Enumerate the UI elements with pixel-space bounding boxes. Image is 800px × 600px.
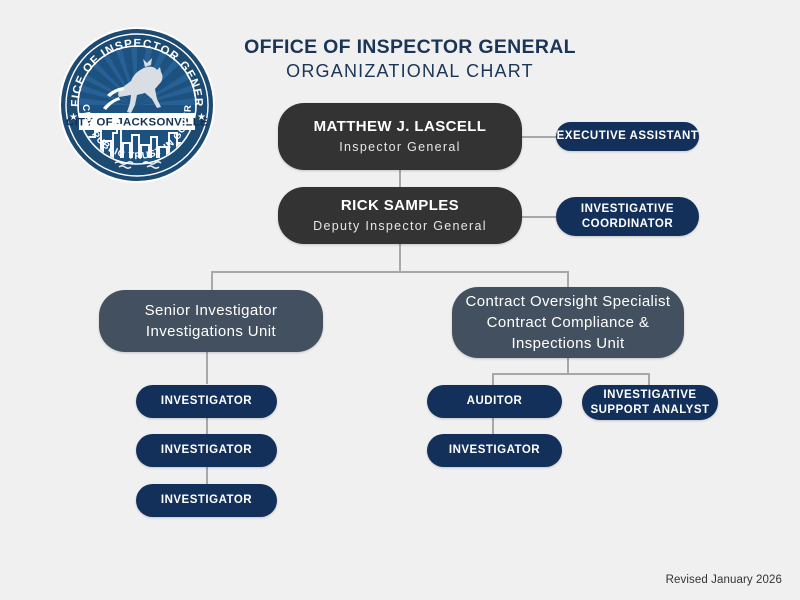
node-investigator-1[interactable]: INVESTIGATOR (136, 385, 277, 418)
node-senior-investigator-label-line1: Senior Investigator (145, 300, 278, 321)
page-title: OFFICE OF INSPECTOR GENERAL ORGANIZATION… (230, 36, 590, 83)
node-contract-oversight-label-line2: Contract Compliance & (487, 312, 650, 333)
node-inspector-general-name: MATTHEW J. LASCELL (314, 118, 487, 136)
connector-bar-to-auditor (492, 373, 494, 385)
city-of-jacksonville-oig-seal: CITY OF JACKSONVILLE (57, 25, 217, 185)
node-inspector-general[interactable]: MATTHEW J. LASCELL Inspector General (278, 103, 522, 170)
node-executive-assistant[interactable]: EXECUTIVE ASSISTANT (556, 122, 699, 151)
node-investigator-4-label: INVESTIGATOR (449, 443, 540, 457)
page-title-line1: OFFICE OF INSPECTOR GENERAL (230, 36, 590, 58)
seal-left-star-icon: ★ (69, 112, 78, 123)
node-investigator-4[interactable]: INVESTIGATOR (427, 434, 562, 467)
connector-deputy-down (399, 243, 401, 272)
org-chart-canvas: CITY OF JACKSONVILLE (0, 0, 800, 600)
seal-graphic: CITY OF JACKSONVILLE (57, 25, 217, 185)
connector-contract-down (567, 358, 569, 374)
revision-note: Revised January 2026 (666, 574, 782, 586)
node-investigator-2[interactable]: INVESTIGATOR (136, 434, 277, 467)
connector-bar-to-senior-investigator (211, 271, 213, 291)
node-inspector-general-role: Inspector General (339, 139, 460, 155)
page-title-line2: ORGANIZATIONAL CHART (230, 60, 590, 83)
node-deputy-inspector-general-role: Deputy Inspector General (313, 218, 487, 234)
node-contract-oversight-label-line3: Inspections Unit (511, 333, 624, 354)
connector-investigator-2-to-3 (206, 467, 208, 484)
node-senior-investigator[interactable]: Senior Investigator Investigations Unit (99, 290, 323, 352)
node-auditor[interactable]: AUDITOR (427, 385, 562, 418)
node-investigator-1-label: INVESTIGATOR (161, 394, 252, 408)
connector-ig-to-deputy (399, 170, 401, 187)
node-investigator-2-label: INVESTIGATOR (161, 443, 252, 457)
connector-level3-bar (211, 271, 569, 273)
node-investigative-support-analyst-label-line1: INVESTIGATIVE (603, 388, 696, 402)
seal-right-star-icon: ★ (197, 112, 206, 123)
node-senior-investigator-label-line2: Investigations Unit (146, 321, 276, 342)
node-deputy-inspector-general-name: RICK SAMPLES (341, 197, 459, 215)
node-contract-oversight-label-line1: Contract Oversight Specialist (465, 291, 670, 312)
node-executive-assistant-label: EXECUTIVE ASSISTANT (557, 129, 699, 143)
connector-contract-bar (492, 373, 649, 375)
node-investigator-3[interactable]: INVESTIGATOR (136, 484, 277, 517)
node-investigative-coordinator-label-line1: INVESTIGATIVE (581, 202, 674, 216)
node-investigative-support-analyst-label-line2: SUPPORT ANALYST (590, 403, 709, 417)
connector-senior-to-investigator-1 (206, 352, 208, 384)
connector-deputy-to-coordinator (522, 216, 556, 218)
node-contract-oversight-specialist[interactable]: Contract Oversight Specialist Contract C… (452, 287, 684, 358)
node-investigative-support-analyst[interactable]: INVESTIGATIVE SUPPORT ANALYST (582, 385, 718, 420)
node-auditor-label: AUDITOR (467, 394, 523, 408)
connector-bar-to-contract-oversight (567, 271, 569, 287)
node-investigative-coordinator[interactable]: INVESTIGATIVE COORDINATOR (556, 197, 699, 236)
node-deputy-inspector-general[interactable]: RICK SAMPLES Deputy Inspector General (278, 187, 522, 244)
connector-ig-to-executive-assistant (522, 136, 556, 138)
connector-auditor-to-investigator-4 (492, 418, 494, 434)
connector-bar-to-support-analyst (648, 373, 650, 385)
node-investigator-3-label: INVESTIGATOR (161, 493, 252, 507)
node-investigative-coordinator-label-line2: COORDINATOR (582, 217, 673, 231)
connector-investigator-1-to-2 (206, 418, 208, 434)
